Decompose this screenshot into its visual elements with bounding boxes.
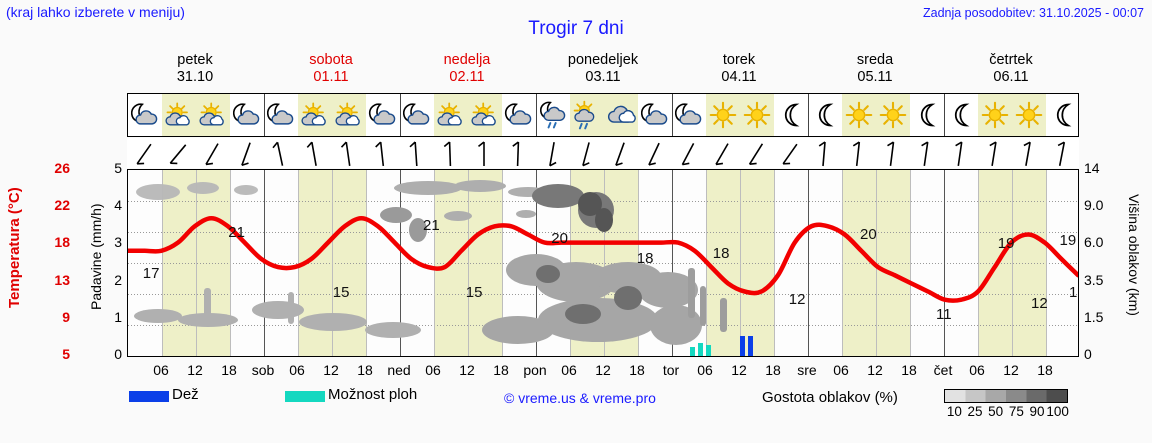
temp-label-12: 12	[1031, 295, 1048, 312]
temp-label-9: 20	[860, 226, 877, 243]
temp-label-7: 18	[713, 245, 730, 262]
precip-bar-shower	[690, 347, 695, 356]
wind-barb-shaft	[992, 142, 996, 166]
wind-barb-shaft	[857, 142, 860, 166]
day-date: 31.10	[127, 69, 263, 86]
temp-label-6: 18	[637, 250, 654, 267]
forecast-plot: 172115211520181812201119121913	[127, 93, 1079, 361]
weather-icon-moon	[910, 94, 944, 136]
weather-icon-sun-cloud	[468, 94, 502, 136]
wind-barb-shaft	[823, 142, 825, 166]
wind-barb-shaft	[415, 142, 417, 166]
precip-bar-rain	[748, 336, 753, 356]
day-header-5: torek04.11	[671, 52, 807, 86]
weather-icon-strip	[127, 93, 1079, 137]
day-header-6: sreda05.11	[807, 52, 943, 86]
day-name: četrtek	[943, 52, 1079, 69]
wind-barb-feather	[479, 142, 485, 146]
temp-label-13: 19	[1060, 232, 1077, 249]
weather-icon-moon-cloud	[128, 94, 162, 136]
weather-icon-sun-cloud	[196, 94, 230, 136]
axis-label-cloud-height: Višina oblakov (km)	[1118, 170, 1142, 340]
wind-barb-shaft	[278, 142, 283, 165]
wind-barb-feather	[376, 142, 381, 147]
weather-icon-moon-cloud	[638, 94, 672, 136]
day-name: sobota	[263, 52, 399, 69]
tick-prec-1: 4	[106, 197, 122, 213]
weather-icon-moon-cloud	[366, 94, 400, 136]
weather-icon-sun	[740, 94, 774, 136]
legend-label-shower: Možnost ploh	[328, 386, 417, 403]
wind-barb-shaft	[891, 142, 894, 166]
wind-barb-strip	[127, 138, 1079, 168]
weather-icon-moon	[774, 94, 808, 136]
wind-barb-feather	[307, 142, 312, 147]
temperature-curve	[128, 170, 1078, 356]
weather-icon-sun-cloud-drizzle	[570, 94, 604, 136]
day-name: torek	[671, 52, 807, 69]
day-name: ponedeljek	[535, 52, 671, 69]
wind-barb-feather	[410, 142, 415, 147]
wind-barb-feather	[750, 163, 757, 164]
tick-cloud-2: 6.0	[1084, 234, 1118, 250]
wind-barb-shaft	[312, 142, 316, 166]
day-date: 02.11	[399, 69, 535, 86]
wind-barb-shaft	[1026, 142, 1030, 166]
temp-label-5: 20	[551, 230, 568, 247]
tick-temp-1: 22	[40, 197, 70, 213]
day-date: 03.11	[535, 69, 671, 86]
weather-icon-moon	[944, 94, 978, 136]
weather-icon-moon-cloud	[502, 94, 536, 136]
tick-cloud-4: 1.5	[1084, 309, 1118, 325]
weather-icon-moon-cloud	[672, 94, 706, 136]
wind-barb-shaft	[649, 143, 659, 165]
weather-icon-sun	[978, 94, 1012, 136]
tick-prec-5: 0	[106, 346, 122, 362]
tick-cloud-1: 9.0	[1084, 197, 1118, 213]
day-name: sreda	[807, 52, 943, 69]
precip-bar-shower	[698, 343, 703, 356]
tick-prec-4: 1	[106, 309, 122, 325]
wind-barb-shaft	[716, 144, 728, 165]
weather-icon-sun-cloud	[434, 94, 468, 136]
precip-bar-rain	[740, 336, 745, 356]
temp-label-0: 17	[143, 265, 160, 282]
day-header-7: četrtek06.11	[943, 52, 1079, 86]
wind-barb-shaft	[550, 142, 554, 166]
day-name: petek	[127, 52, 263, 69]
wind-barb-feather	[444, 142, 449, 147]
wind-barb-feather	[342, 142, 347, 147]
tick-cloud-5: 0	[1084, 346, 1118, 362]
weather-icon-sun	[706, 94, 740, 136]
day-date: 01.11	[263, 69, 399, 86]
day-header-3: nedelja02.11	[399, 52, 535, 86]
wind-barb-shaft	[381, 142, 384, 166]
wind-barbs-svg	[127, 138, 1079, 168]
wind-barb-shaft	[206, 144, 218, 165]
temp-label-11: 19	[998, 235, 1015, 252]
weather-icon-moon-cloud	[400, 94, 434, 136]
wind-barb-shaft	[958, 142, 961, 166]
temp-label-1: 21	[228, 224, 245, 241]
wind-barb-shaft	[783, 144, 797, 164]
chart-area: 172115211520181812201119121913	[127, 169, 1079, 357]
wind-barb-shaft	[583, 142, 589, 165]
wind-barb-shaft	[242, 143, 250, 166]
wind-barb-feather	[206, 163, 213, 164]
day-date: 04.11	[671, 69, 807, 86]
tick-prec-3: 2	[106, 272, 122, 288]
wind-barb-shaft	[924, 142, 927, 166]
precip-bar-shower	[706, 345, 711, 356]
day-name: nedelja	[399, 52, 535, 69]
weather-icon-sun	[876, 94, 910, 136]
weather-icon-sun-cloud	[298, 94, 332, 136]
temp-label-3: 21	[423, 217, 440, 234]
ramp-tick-100: 100	[1045, 404, 1071, 419]
wind-barb-shaft	[518, 142, 519, 166]
temp-label-2: 15	[333, 284, 350, 301]
tick-temp-5: 5	[40, 346, 70, 362]
day-date: 06.11	[943, 69, 1079, 86]
wind-barb-shaft	[450, 142, 451, 166]
tick-temp-0: 26	[40, 160, 70, 176]
weather-icon-sun-cloud	[332, 94, 366, 136]
weather-icon-sun	[842, 94, 876, 136]
axis-label-temperature: Temperatura (°C)	[6, 168, 32, 328]
wind-barb-shaft	[750, 144, 763, 164]
legend-label-rain: Dež	[172, 386, 199, 403]
weather-icon-moon	[1046, 94, 1080, 136]
last-update-text: Zadnja posodobitev: 31.10.2025 - 00:07	[923, 6, 1144, 20]
page-title: Trogir 7 dni	[0, 18, 1152, 40]
x-tick-26: 18	[1025, 362, 1065, 378]
weather-icon-moon-cloud	[230, 94, 264, 136]
temp-label-4: 15	[466, 284, 483, 301]
weather-icon-sun-cloud	[162, 94, 196, 136]
wind-barb-shaft	[137, 144, 151, 164]
cloud-density-ramp	[944, 389, 1068, 403]
day-header-2: sobota01.11	[263, 52, 399, 86]
temp-label-14: 13	[1069, 284, 1079, 301]
wind-barb-shaft	[682, 143, 693, 164]
tick-temp-4: 9	[40, 309, 70, 325]
wind-barb-shaft	[616, 143, 624, 166]
wind-barb-shaft	[1060, 142, 1065, 166]
temp-label-10: 11	[936, 306, 952, 323]
temp-label-8: 12	[789, 291, 806, 308]
tick-temp-3: 13	[40, 272, 70, 288]
tick-cloud-0: 14	[1084, 160, 1118, 176]
wind-barb-shaft	[170, 145, 185, 163]
weather-icon-moon-cloud-drizzle	[536, 94, 570, 136]
wind-barb-feather	[716, 163, 723, 164]
legend-swatch-rain	[129, 391, 169, 402]
weather-icon-sun	[1012, 94, 1046, 136]
tick-prec-0: 5	[106, 160, 122, 176]
day-header-4: ponedeljek03.11	[535, 52, 671, 86]
tick-cloud-3: 3.5	[1084, 272, 1118, 288]
legend-swatch-shower	[285, 391, 325, 402]
tick-temp-2: 18	[40, 234, 70, 250]
weather-icon-cloud	[604, 94, 638, 136]
tick-prec-2: 3	[106, 234, 122, 250]
cloud-density-legend-title: Gostota oblakov (%)	[762, 389, 898, 406]
weather-icon-moon-cloud	[264, 94, 298, 136]
wind-barb-shaft	[346, 142, 349, 166]
day-header-1: petek31.10	[127, 52, 263, 86]
copyright-link[interactable]: © vreme.us & vreme.pro	[504, 390, 656, 406]
wind-barb-feather	[273, 142, 278, 147]
weather-icon-moon	[808, 94, 842, 136]
day-date: 05.11	[807, 69, 943, 86]
